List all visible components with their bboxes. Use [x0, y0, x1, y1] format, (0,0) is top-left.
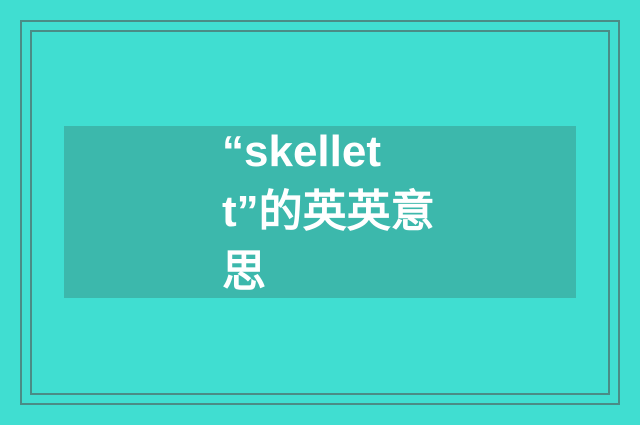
- page-canvas: “skellett”的英英意思: [0, 0, 640, 425]
- page-title: “skellett”的英英意思: [222, 122, 444, 302]
- title-panel: “skellett”的英英意思: [64, 126, 576, 298]
